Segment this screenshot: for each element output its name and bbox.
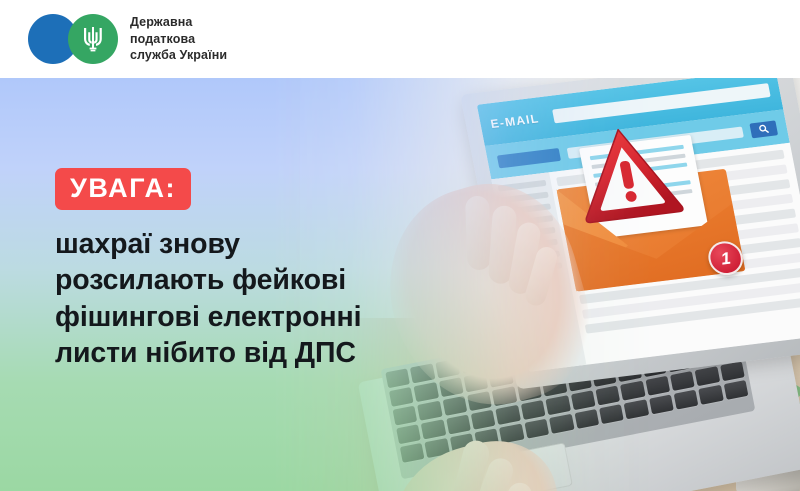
headline: шахраї знову розсилають фейкові фішингов… [55, 226, 475, 372]
organization-name: Державна податкова служба України [130, 14, 227, 64]
headline-line-3: фішингові електронні [55, 299, 475, 335]
phishing-warning-banner: Державна податкова служба України [0, 0, 800, 491]
ukraine-trident-icon [82, 25, 104, 53]
header-bar: Державна податкова служба України [0, 0, 800, 78]
banner-artwork: E-MAIL [0, 78, 800, 491]
headline-line-4: листи нібито від ДПС [55, 335, 475, 371]
logo-line-2: податкова [130, 31, 227, 48]
logo-green-circle-icon [68, 14, 118, 64]
banner-text-block: УВАГА: шахраї знову розсилають фейкові ф… [55, 168, 475, 372]
organization-logo: Державна податкова служба України [28, 14, 227, 64]
attention-badge: УВАГА: [55, 168, 191, 210]
headline-line-2: розсилають фейкові [55, 262, 475, 298]
logo-marks [28, 14, 120, 64]
logo-line-1: Державна [130, 14, 227, 31]
logo-line-3: служба України [130, 47, 227, 64]
headline-line-1: шахраї знову [55, 226, 475, 262]
